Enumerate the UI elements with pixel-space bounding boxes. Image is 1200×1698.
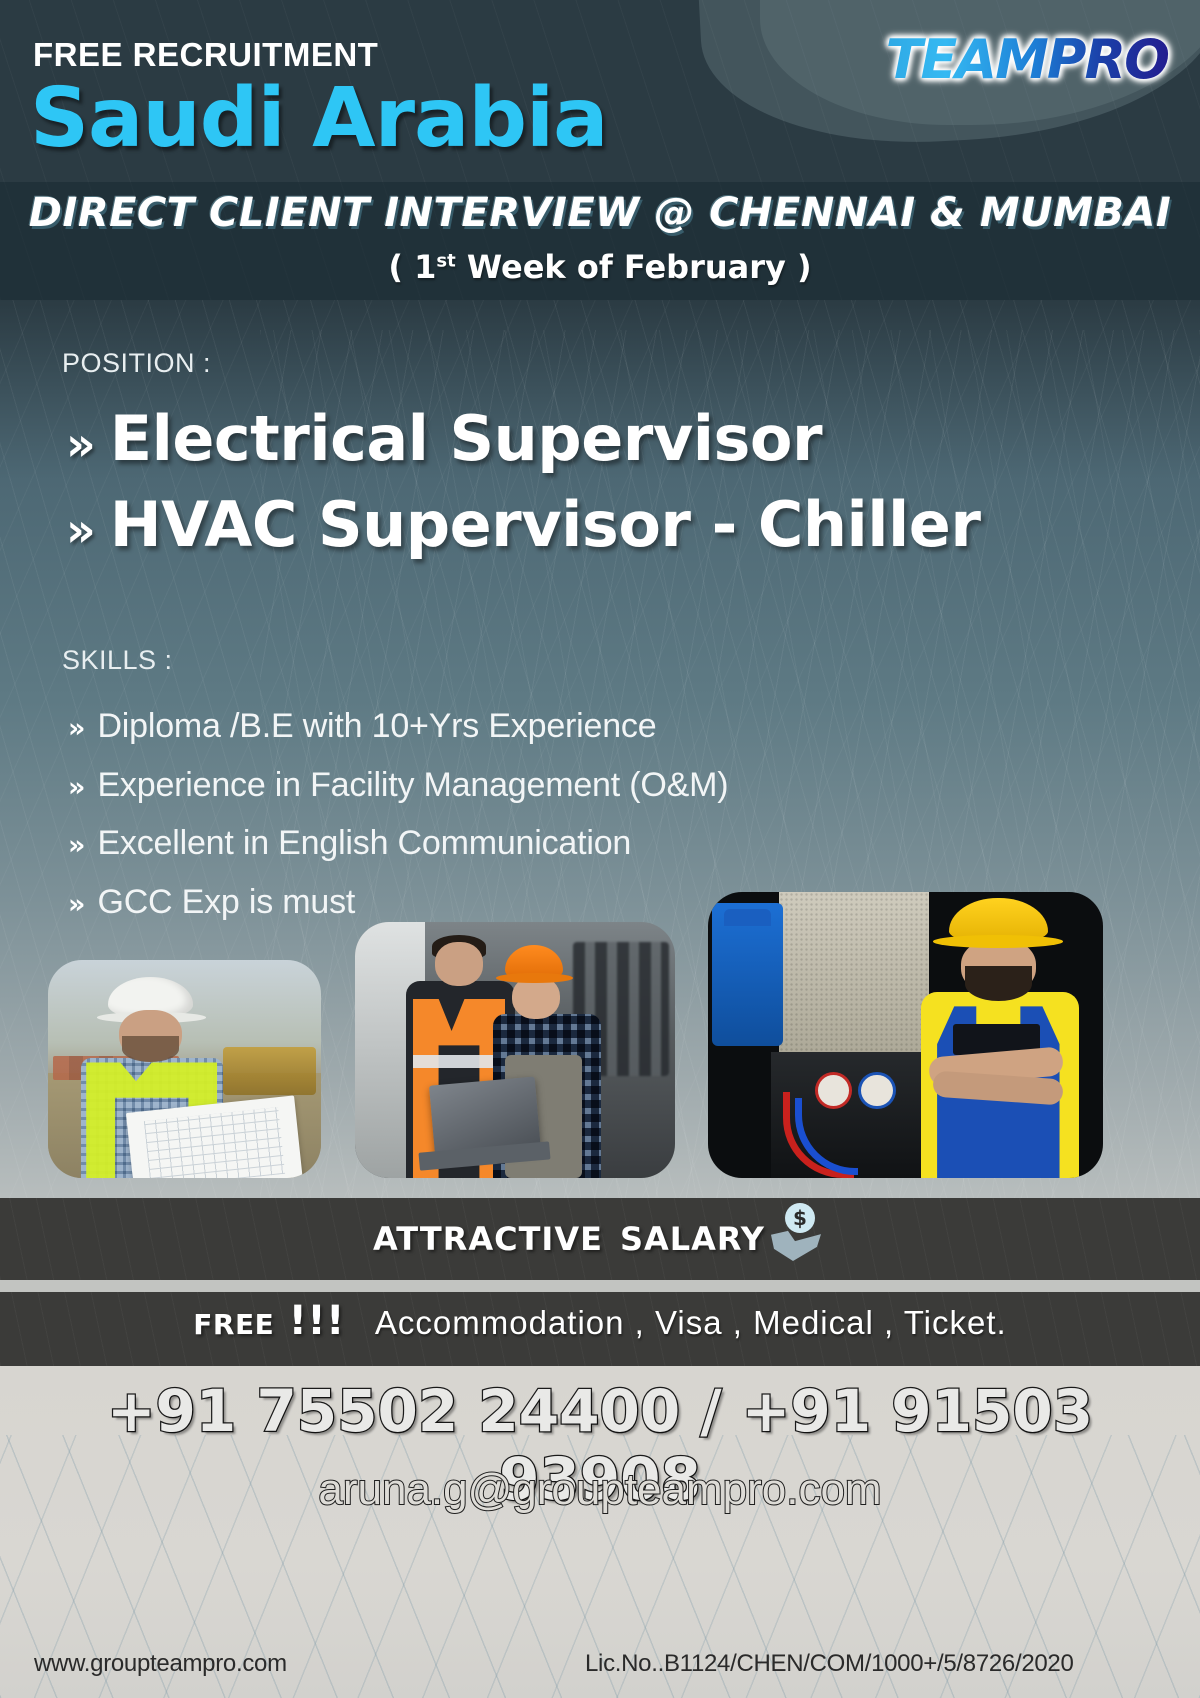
photo-hvac-technician bbox=[708, 892, 1103, 1178]
skill-text: Diploma /B.E with 10+Yrs Experience bbox=[97, 700, 656, 753]
photo-engineers-with-laptop bbox=[355, 922, 675, 1178]
band-divider bbox=[0, 1280, 1200, 1292]
page-title-country: Saudi Arabia bbox=[30, 76, 608, 162]
position-item: » HVAC Supervisor - Chiller bbox=[66, 486, 1126, 564]
attractive-salary-text: Attractive Salary bbox=[373, 1207, 765, 1261]
teampro-logo-text: TEAMPRO bbox=[882, 28, 1172, 91]
list-item: » Experience in Facility Management (O&M… bbox=[68, 759, 1128, 812]
skill-text: Experience in Facility Management (O&M) bbox=[97, 759, 728, 812]
position-list: » Electrical Supervisor » HVAC Superviso… bbox=[66, 400, 1126, 571]
free-benefits-row: Free !!! Accommodation , Visa , Medical … bbox=[0, 1298, 1200, 1344]
skills-label: SKILLS : bbox=[62, 645, 173, 676]
free-label: Free !!! bbox=[193, 1298, 345, 1344]
week-suffix: Week of February ) bbox=[456, 248, 812, 286]
chevron-double-right-icon: » bbox=[68, 772, 85, 803]
footer-license-number: Lic.No..B1124/CHEN/COM/1000+/5/8726/2020 bbox=[585, 1650, 1074, 1678]
chevron-double-right-icon: » bbox=[68, 713, 85, 744]
contact-email[interactable]: aruna.g@groupteampro.com bbox=[0, 1465, 1200, 1515]
position-item: » Electrical Supervisor bbox=[66, 400, 1126, 478]
attractive-salary-row: Attractive Salary $ bbox=[0, 1203, 1200, 1265]
eyebrow-free-recruitment: FREE RECRUITMENT bbox=[33, 36, 378, 74]
interview-date-line: ( 1st Week of February ) bbox=[0, 248, 1200, 286]
week-prefix: ( 1 bbox=[388, 248, 436, 286]
open-hand-shape bbox=[771, 1229, 821, 1261]
chevron-double-right-icon: » bbox=[66, 421, 96, 467]
footer-website[interactable]: www.groupteampro.com bbox=[34, 1650, 287, 1678]
week-ordinal-suffix: st bbox=[436, 250, 455, 271]
position-title: HVAC Supervisor - Chiller bbox=[110, 486, 981, 564]
position-label: POSITION : bbox=[62, 348, 211, 379]
position-title: Electrical Supervisor bbox=[110, 400, 822, 478]
teampro-logo: TEAMPRO bbox=[882, 28, 1172, 91]
hand-holding-coin-icon: $ bbox=[769, 1203, 827, 1265]
interview-location-line: DIRECT CLIENT INTERVIEW @ CHENNAI & MUMB… bbox=[0, 190, 1200, 236]
free-benefits-text: Accommodation , Visa , Medical , Ticket. bbox=[375, 1304, 1007, 1342]
photo-strip bbox=[0, 830, 1200, 1205]
recruitment-poster: TEAMPRO FREE RECRUITMENT Saudi Arabia DI… bbox=[0, 0, 1200, 1698]
chevron-double-right-icon: » bbox=[66, 507, 96, 553]
photo-site-surveyor bbox=[48, 960, 321, 1178]
list-item: » Diploma /B.E with 10+Yrs Experience bbox=[68, 700, 1128, 753]
dollar-coin-icon: $ bbox=[785, 1203, 815, 1233]
